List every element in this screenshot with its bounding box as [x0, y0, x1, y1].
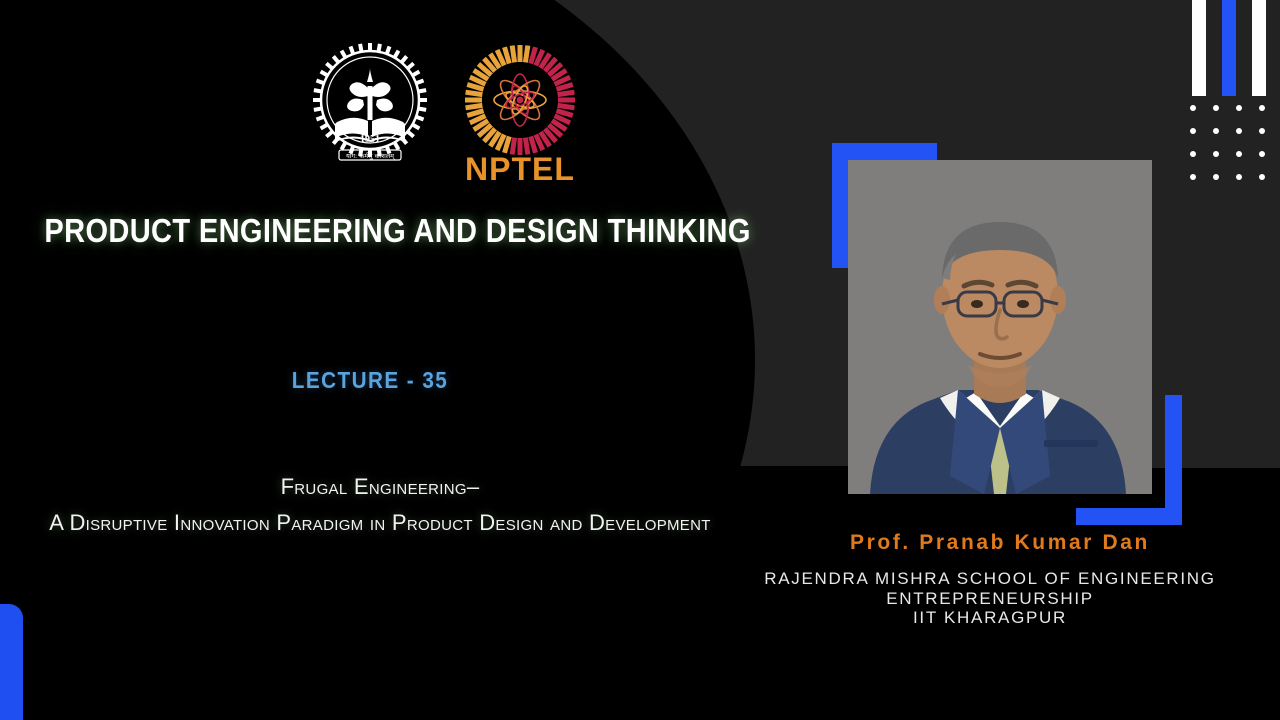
decor-dot	[1259, 105, 1265, 111]
speaker-name: Prof. Pranab Kumar Dan	[760, 531, 1240, 555]
nptel-logo: NPTEL	[455, 40, 585, 188]
decor-dot	[1236, 174, 1242, 180]
speaker-affiliation: RAJENDRA MISHRA SCHOOL OF ENGINEERING EN…	[700, 569, 1280, 609]
decor-bar-white-left	[1192, 0, 1206, 96]
decor-dot	[1259, 174, 1265, 180]
decor-dot	[1213, 174, 1219, 180]
svg-text:NPTEL: NPTEL	[465, 151, 575, 187]
decor-dot	[1259, 151, 1265, 157]
blue-corner-tab	[0, 604, 23, 720]
speaker-photo	[848, 160, 1152, 494]
decor-dot	[1259, 128, 1265, 134]
decor-dot	[1190, 151, 1196, 157]
subtitle-line-2: A Disruptive Innovation Paradigm in Prod…	[0, 510, 760, 536]
decor-bar-blue	[1222, 0, 1236, 96]
speaker-institute: IIT KHARAGPUR	[700, 608, 1280, 628]
decor-dot	[1236, 151, 1242, 157]
decor-dot-grid	[1190, 105, 1280, 197]
subtitle-line-1: Frugal Engineering–	[0, 474, 760, 500]
slide-canvas: 1951 योग: कर्मसु कौशलम्	[0, 0, 1280, 720]
decor-dot	[1213, 151, 1219, 157]
page-title: PRODUCT ENGINEERING AND DESIGN THINKING	[44, 212, 695, 250]
decor-dot	[1236, 105, 1242, 111]
svg-text:1951: 1951	[360, 134, 380, 145]
svg-text:योग: कर्मसु कौशलम्: योग: कर्मसु कौशलम्	[346, 152, 395, 160]
iit-kharagpur-logo: 1951 योग: कर्मसु कौशलम्	[305, 38, 435, 168]
decor-dot	[1236, 128, 1242, 134]
decor-dot	[1213, 128, 1219, 134]
decor-bar-white-right	[1252, 0, 1266, 96]
decor-vertical-bars	[1192, 0, 1280, 96]
logo-row: 1951 योग: कर्मसु कौशलम्	[295, 38, 585, 188]
decor-dot	[1190, 174, 1196, 180]
decor-dot	[1213, 105, 1219, 111]
decor-dot	[1190, 105, 1196, 111]
decor-dot	[1190, 128, 1196, 134]
lecture-number: LECTURE - 35	[37, 367, 703, 394]
